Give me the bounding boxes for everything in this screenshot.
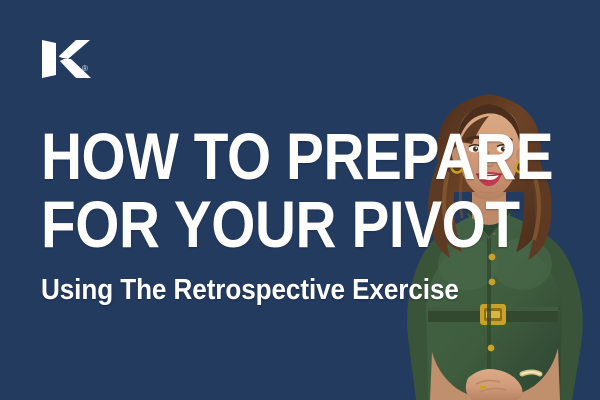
page-title: HOW TO PREPARE FOR YOUR PIVOT [41, 122, 600, 258]
brand-logo[interactable]: ® [40, 38, 94, 80]
thumbnail-canvas: ® HOW TO PREPARE FOR YOUR PIVOT Using Th… [0, 0, 600, 400]
subtitle: Using The Retrospective Exercise [41, 274, 459, 306]
registered-trademark-icon: ® [82, 64, 88, 73]
headline-line-1: HOW TO PREPARE [41, 122, 553, 190]
headline-line-2: FOR YOUR PIVOT [41, 190, 553, 258]
